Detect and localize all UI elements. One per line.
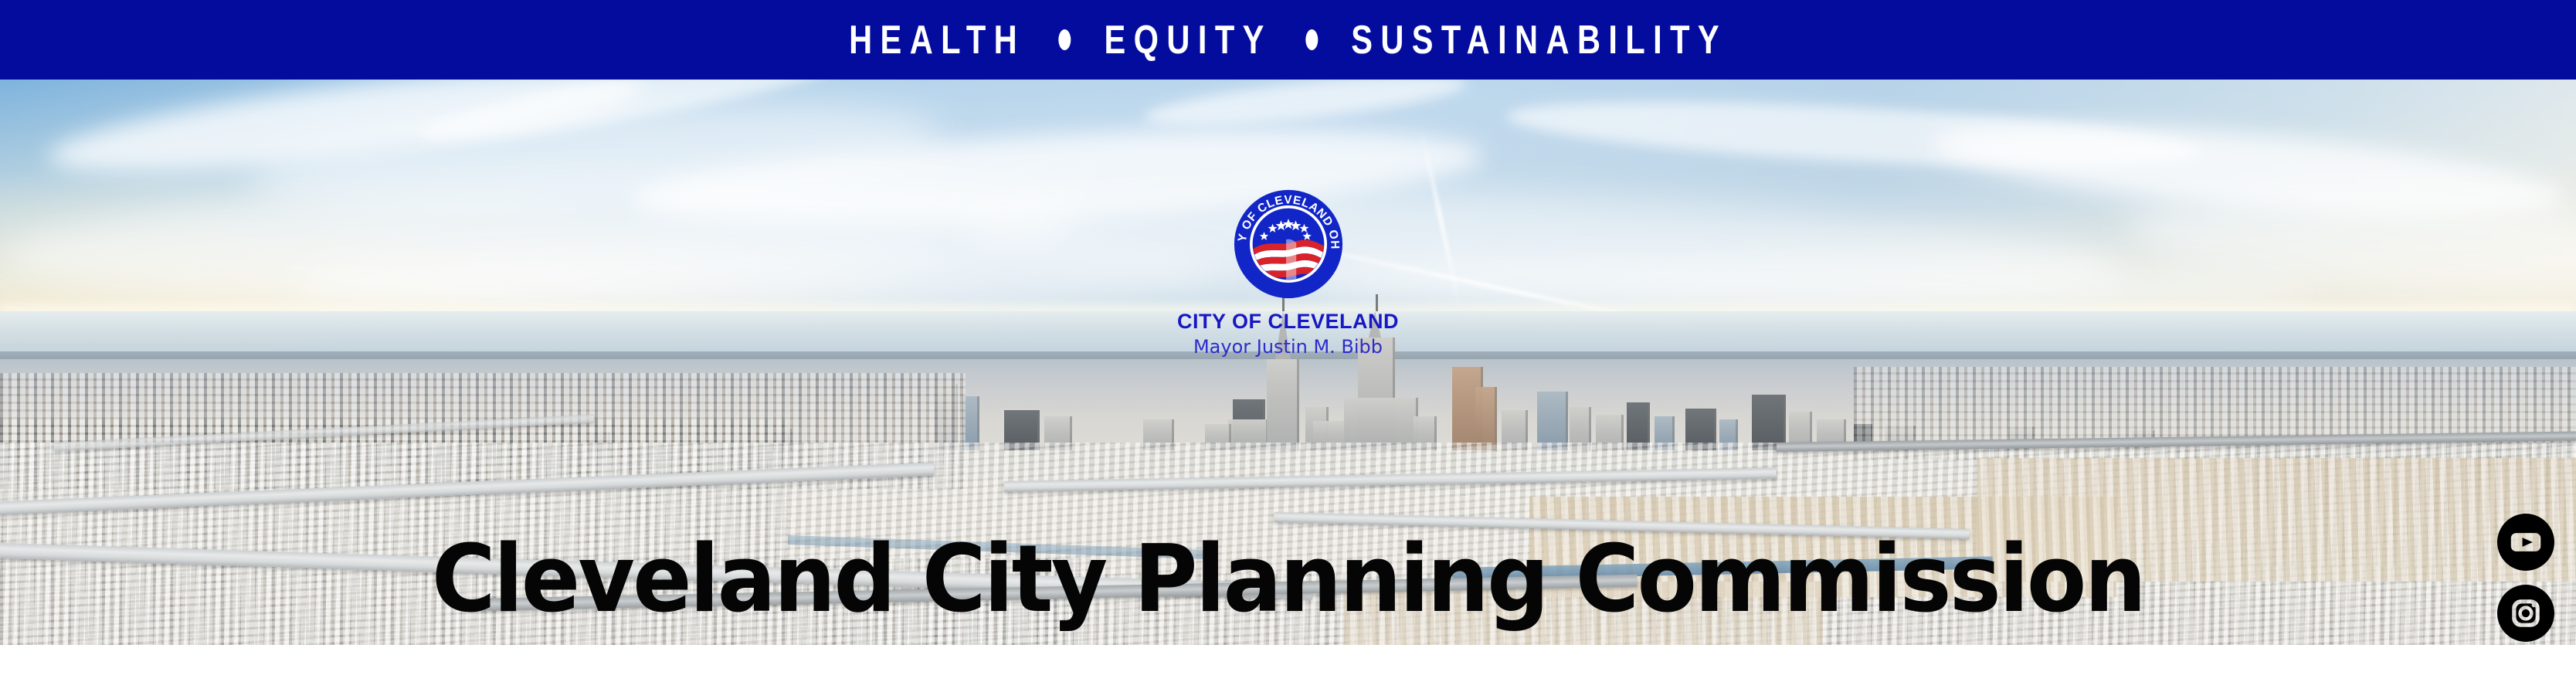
terminal-tower [1267,359,1299,450]
hero-photo: CITY OF CLEVELAND OHIO [0,80,2576,645]
city-seal-block: CITY OF CLEVELAND OHIO [1134,188,1443,356]
tagline-banner: HEALTH EQUITY SUSTAINABILITY [0,0,2576,80]
youtube-icon[interactable] [2497,514,2554,571]
bottom-white-strip [0,645,2576,682]
city-of-cleveland-seal-icon: CITY OF CLEVELAND OHIO [1232,188,1345,300]
instagram-icon[interactable] [2497,585,2554,642]
page-title: Cleveland City Planning Commission [77,534,2499,626]
seal-subtitle: Mayor Justin M. Bibb [1134,338,1443,356]
page-root: HEALTH EQUITY SUSTAINABILITY [0,0,2576,682]
tagline-word-sustainability: SUSTAINABILITY [1350,20,1729,60]
bullet-dot-icon [1305,29,1318,50]
social-media-rail [2497,514,2554,645]
building [1537,392,1568,450]
building [1475,387,1497,450]
bullet-dot-icon [1058,29,1071,50]
tagline-inner: HEALTH EQUITY SUSTAINABILITY [847,20,1728,60]
tagline-word-equity: EQUITY [1103,20,1273,60]
seal-title: CITY OF CLEVELAND [1134,311,1443,332]
tagline-word-health: HEALTH [847,20,1026,60]
